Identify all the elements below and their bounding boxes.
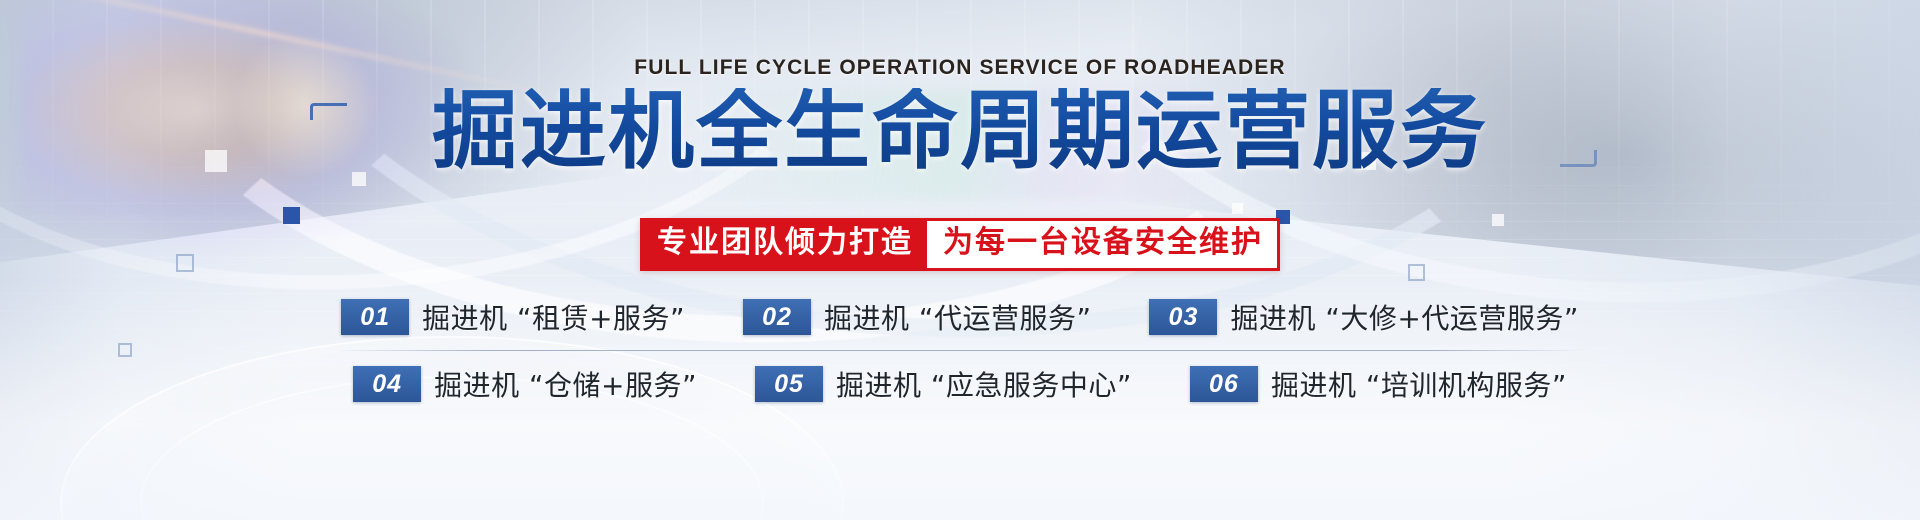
service-item[interactable]: 02 掘进机 “代运营服务” (743, 297, 1091, 337)
service-number-badge: 03 (1149, 299, 1217, 335)
service-number-badge: 06 (1190, 366, 1258, 402)
service-list: 01 掘进机 “租赁+服务” 02 掘进机 “代运营服务” 03 掘进机 “大修… (0, 288, 1920, 413)
slogan-primary: 专业团队倾力打造 (643, 221, 927, 268)
service-item-label: 掘进机 “应急服务中心” (836, 364, 1132, 404)
service-number-badge: 05 (755, 366, 823, 402)
service-row-1: 01 掘进机 “租赁+服务” 02 掘进机 “代运营服务” 03 掘进机 “大修… (0, 288, 1920, 346)
service-item-label: 掘进机 “代运营服务” (824, 297, 1091, 337)
service-number-badge: 02 (743, 299, 811, 335)
service-row-divider (335, 350, 1585, 351)
service-item-label: 掘进机 “租赁+服务” (422, 297, 685, 337)
banner-content: FULL LIFE CYCLE OPERATION SERVICE OF ROA… (0, 0, 1920, 520)
service-item-label: 掘进机 “大修+代运营服务” (1230, 297, 1578, 337)
service-number-badge: 04 (353, 366, 421, 402)
service-item-label: 掘进机 “培训机构服务” (1271, 364, 1567, 404)
service-item[interactable]: 06 掘进机 “培训机构服务” (1190, 364, 1567, 404)
promo-banner: FULL LIFE CYCLE OPERATION SERVICE OF ROA… (0, 0, 1920, 520)
service-item[interactable]: 04 掘进机 “仓储+服务” (353, 364, 697, 404)
service-number-badge: 01 (341, 299, 409, 335)
service-item[interactable]: 03 掘进机 “大修+代运营服务” (1149, 297, 1578, 337)
service-item-label: 掘进机 “仓储+服务” (434, 364, 697, 404)
service-item[interactable]: 05 掘进机 “应急服务中心” (755, 364, 1132, 404)
english-subtitle: FULL LIFE CYCLE OPERATION SERVICE OF ROA… (0, 56, 1920, 80)
slogan-secondary: 为每一台设备安全维护 (927, 221, 1277, 268)
slogan-box: 专业团队倾力打造 为每一台设备安全维护 (640, 218, 1280, 271)
service-row-2: 04 掘进机 “仓储+服务” 05 掘进机 “应急服务中心” 06 掘进机 “培… (0, 355, 1920, 413)
slogan-bar: 专业团队倾力打造 为每一台设备安全维护 (0, 218, 1920, 271)
main-headline: 掘进机全生命周期运营服务 (0, 88, 1920, 174)
service-item[interactable]: 01 掘进机 “租赁+服务” (341, 297, 685, 337)
